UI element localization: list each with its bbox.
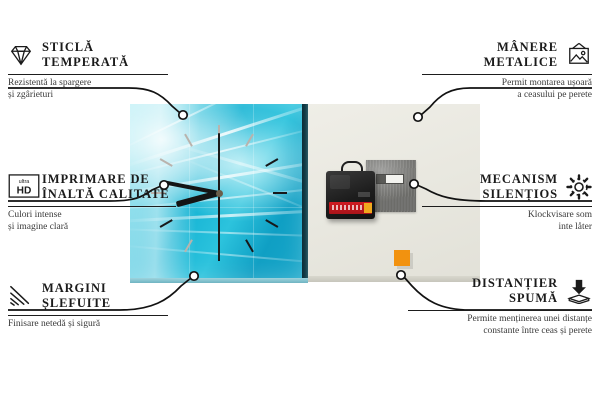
callout-description-line1: Permite menținerea unei distanțe — [408, 314, 592, 326]
callout-description-line1: Culori intense — [8, 210, 176, 222]
mechanism-detail — [358, 192, 370, 197]
callout-high-quality-print: ultra HD IMPRIMARE DE ÎNALTĂ CALITATE Cu… — [8, 172, 176, 233]
hour-tick — [219, 192, 287, 194]
polished-edges-icon — [8, 283, 34, 309]
clock-hub — [216, 190, 223, 197]
callout-divider — [422, 206, 592, 207]
metal-hanger-slot — [376, 174, 404, 184]
svg-text:ultra: ultra — [19, 179, 31, 185]
callout-divider — [8, 206, 176, 207]
callout-title: MARGINI ȘLEFUITE — [42, 281, 111, 311]
callout-divider — [408, 310, 592, 311]
callout-description-line1: Finisare netedă și sigură — [8, 319, 168, 331]
infographic-canvas: STICLĂ TEMPERATĂ Rezistentă la spargere … — [0, 0, 600, 400]
callout-divider — [8, 315, 168, 316]
ultra-hd-icon: ultra HD — [8, 174, 34, 200]
callout-header: STICLĂ TEMPERATĂ — [8, 40, 168, 70]
callout-header: DISTANȚIER SPUMĂ — [408, 276, 592, 306]
callout-description-line1: Klockvisare som — [422, 210, 592, 222]
clock-second-hand-upper — [218, 133, 220, 193]
callout-title: MÂNERE METALICE — [484, 40, 558, 70]
callout-metal-handles: MÂNERE METALICE Permit montarea ușoară a… — [422, 40, 592, 101]
callout-header: MECANISM SILENȚIOS — [422, 172, 592, 202]
diamond-icon — [8, 42, 34, 68]
callout-silent-mechanism: MECANISM SILENȚIOS Klockvisare som inte … — [422, 172, 592, 233]
callout-description-line2: constante între ceas și perete — [408, 326, 592, 338]
svg-text:HD: HD — [17, 185, 32, 196]
picture-hanger-icon — [566, 42, 592, 68]
callout-header: ultra HD IMPRIMARE DE ÎNALTĂ CALITATE — [8, 172, 176, 202]
callout-description-line2: și zgârieturi — [8, 90, 168, 102]
callout-tempered-glass: STICLĂ TEMPERATĂ Rezistentă la spargere … — [8, 40, 168, 101]
callout-header: MÂNERE METALICE — [422, 40, 592, 70]
callout-description-line1: Rezistentă la spargere — [8, 78, 168, 90]
callout-title: IMPRIMARE DE ÎNALTĂ CALITATE — [42, 172, 170, 202]
callout-title: STICLĂ TEMPERATĂ — [42, 40, 129, 70]
callout-divider — [8, 74, 168, 75]
callout-divider — [422, 74, 592, 75]
callout-title: MECANISM SILENȚIOS — [480, 172, 558, 202]
callout-header: MARGINI ȘLEFUITE — [8, 281, 168, 311]
mechanism-detail — [330, 175, 350, 189]
callout-foam-spacer: DISTANȚIER SPUMĂ Permite menținerea unei… — [408, 276, 592, 337]
battery-label — [332, 205, 362, 210]
gear-icon — [566, 174, 592, 200]
foam-spacer — [394, 250, 410, 266]
down-arrow-stack-icon — [566, 278, 592, 304]
hour-tick — [218, 134, 254, 194]
callout-title: DISTANȚIER SPUMĂ — [472, 276, 558, 306]
callout-description-line2: și imagine clară — [8, 222, 176, 234]
callout-description-line2: inte låter — [422, 222, 592, 234]
callout-description-line2: a ceasului pe perete — [422, 90, 592, 102]
callout-polished-edges: MARGINI ȘLEFUITE Finisare netedă și sigu… — [8, 281, 168, 331]
callout-description-line1: Permit montarea ușoară — [422, 78, 592, 90]
battery-plus-terminal — [364, 203, 372, 213]
clock-second-hand — [218, 193, 220, 259]
